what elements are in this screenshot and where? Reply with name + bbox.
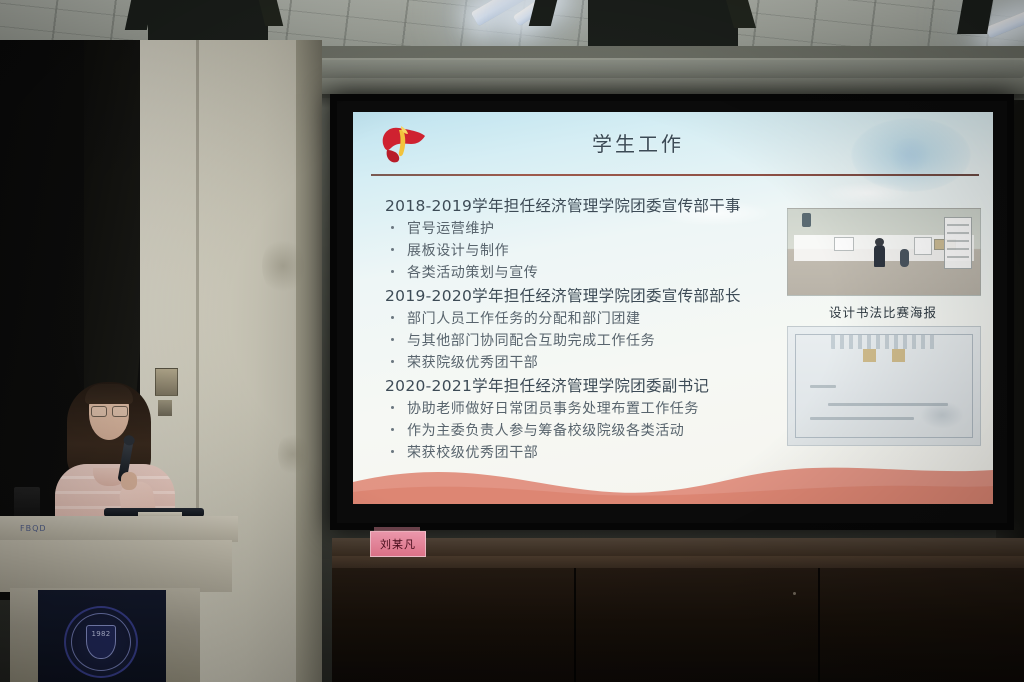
- certificate-seal-stamp: [920, 401, 964, 429]
- certificate-title-glyphs: [863, 349, 905, 362]
- bullet-item: 与其他部门协同配合互助完成工作任务: [385, 330, 775, 350]
- projector-screen-roller: [318, 60, 1024, 78]
- acoustic-baffle-2: [148, 0, 268, 40]
- presenter-glasses: [91, 406, 127, 415]
- slide-cloud-2: [823, 182, 913, 204]
- chair-2: [705, 508, 787, 560]
- chair-4: [940, 508, 1022, 560]
- name-placard-text: 刘某凡: [380, 536, 416, 552]
- title-divider: [371, 174, 979, 176]
- slide-header: 学生工作: [353, 112, 993, 176]
- presentation-slide: 学生工作 2018-2019学年担任经济管理学院团委宣传部干事 官号运营维护 展…: [353, 112, 993, 504]
- bullet-item: 协助老师做好日常团员事务处理布置工作任务: [385, 398, 775, 418]
- presenter-fringe: [85, 384, 133, 404]
- acoustic-baffle-5: [588, 0, 738, 46]
- acoustic-baffle-7: [957, 0, 993, 34]
- podium-brand-mark: FBQD: [20, 524, 47, 533]
- pillar-smudge-1: [262, 236, 304, 296]
- section-heading: 2019-2020学年担任经济管理学院团委宣传部部长: [385, 284, 775, 306]
- bullet-item: 展板设计与制作: [385, 240, 775, 260]
- podium-body: [0, 540, 232, 592]
- pillar-edge: [296, 40, 322, 682]
- table-seam-1: [574, 568, 576, 682]
- slide-title: 学生工作: [353, 128, 993, 157]
- table-marker: [793, 592, 796, 595]
- university-seal-logo: 1982: [64, 606, 138, 678]
- slide-body: 2018-2019学年担任经济管理学院团委宣传部干事 官号运营维护 展板设计与制…: [385, 194, 775, 464]
- slide-wave-decoration: [353, 448, 993, 504]
- bullet-item: 作为主委负责人参与筹备校级院级各类活动: [385, 420, 775, 440]
- pillar-smudge-2: [278, 430, 308, 478]
- slide-media-column: 设计书法比赛海报: [787, 208, 979, 446]
- table-seam-2: [818, 568, 820, 682]
- certificate-text-line: [810, 385, 836, 388]
- bullet-item: 荣获院级优秀团干部: [385, 352, 775, 372]
- seal-year: 1982: [91, 630, 110, 638]
- stage-floor: [332, 538, 1024, 558]
- chair-3: [818, 508, 900, 560]
- photo-board-2: [914, 237, 932, 255]
- section-heading: 2020-2021学年担任经济管理学院团委副书记: [385, 374, 775, 396]
- calligraphy-contest-poster-photo: [787, 208, 981, 296]
- photo-caption: 设计书法比赛海报: [787, 302, 979, 321]
- projection-screen: 学生工作 2018-2019学年担任经济管理学院团委宣传部干事 官号运营维护 展…: [330, 94, 1014, 530]
- photo-person-2: [900, 249, 909, 267]
- photo-board-1: [834, 237, 854, 251]
- lecture-hall-photo: 学生工作 2018-2019学年担任经济管理学院团委宣传部干事 官号运营维护 展…: [0, 0, 1024, 682]
- bullet-item: 部门人员工作任务的分配和部门团建: [385, 308, 775, 328]
- conference-table: [332, 568, 1024, 682]
- chair-1: [568, 508, 650, 560]
- certificate-scallop: [795, 335, 973, 349]
- photo-lamp: [802, 213, 811, 227]
- bullet-item: 官号运营维护: [385, 218, 775, 238]
- photo-display-rack: [944, 217, 972, 269]
- bullet-item: 各类活动策划与宣传: [385, 262, 775, 282]
- photo-person-1: [874, 245, 885, 267]
- section-heading: 2018-2019学年担任经济管理学院团委宣传部干事: [385, 194, 775, 216]
- certificate-text-line: [810, 417, 914, 420]
- presenter-hand: [121, 472, 137, 490]
- award-certificate-image: [787, 326, 981, 446]
- name-placard: 刘某凡: [370, 531, 426, 557]
